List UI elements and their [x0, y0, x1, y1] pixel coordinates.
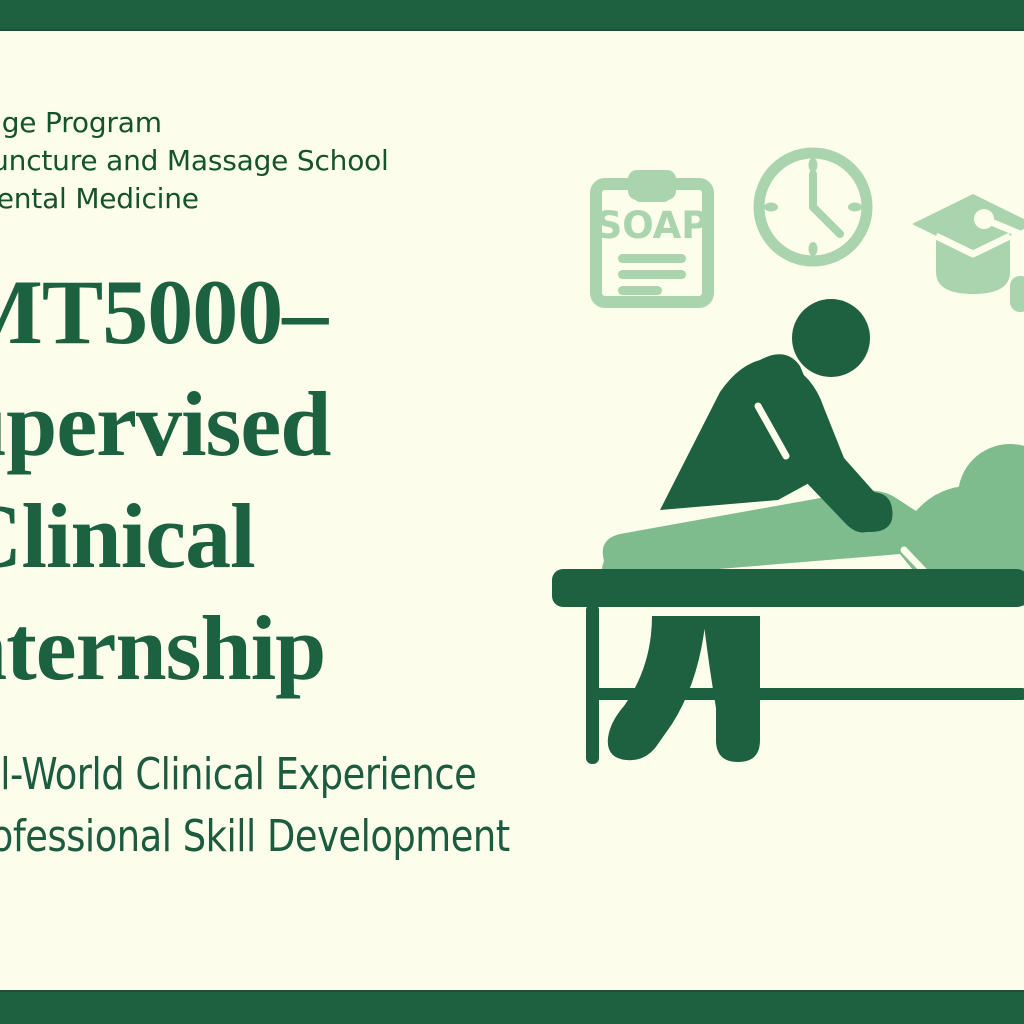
massage-table	[552, 569, 1024, 764]
text-column: ssage Program upuncture and Massage Scho…	[0, 104, 576, 868]
top-brand-bar	[0, 0, 1024, 31]
eyebrow-line-2: upuncture and Massage School	[0, 142, 576, 180]
eyebrow-line-1: ssage Program	[0, 104, 576, 142]
therapist-figure	[660, 299, 893, 533]
bottom-brand-bar	[0, 990, 1024, 1024]
course-promo-card: ssage Program upuncture and Massage Scho…	[0, 0, 1024, 1024]
page-title: MT5000– upervised Clinical nternship	[0, 256, 576, 704]
clock-icon	[748, 142, 878, 272]
client-figure	[602, 444, 1024, 606]
eyebrow-line-3: Oriental Medicine	[0, 180, 576, 218]
eyebrow-block: ssage Program upuncture and Massage Scho…	[0, 104, 576, 218]
title-line-3: Clinical	[0, 480, 576, 592]
title-line-1: MT5000–	[0, 256, 576, 368]
therapist-legs	[608, 616, 760, 762]
massage-therapy-illustration	[548, 288, 1024, 778]
kicker-line-1: eal-World Clinical Experience	[0, 744, 533, 806]
title-line-4: nternship	[0, 592, 576, 704]
kicker-block: eal-World Clinical Experience Profession…	[0, 744, 576, 868]
title-line-2: upervised	[0, 368, 576, 480]
clipboard-soap-label: SOAP	[596, 204, 709, 247]
kicker-line-2: Professional Skill Development	[0, 806, 533, 868]
clipboard-soap-icon: SOAP	[590, 168, 714, 308]
graduation-cap-icon	[898, 176, 1024, 316]
